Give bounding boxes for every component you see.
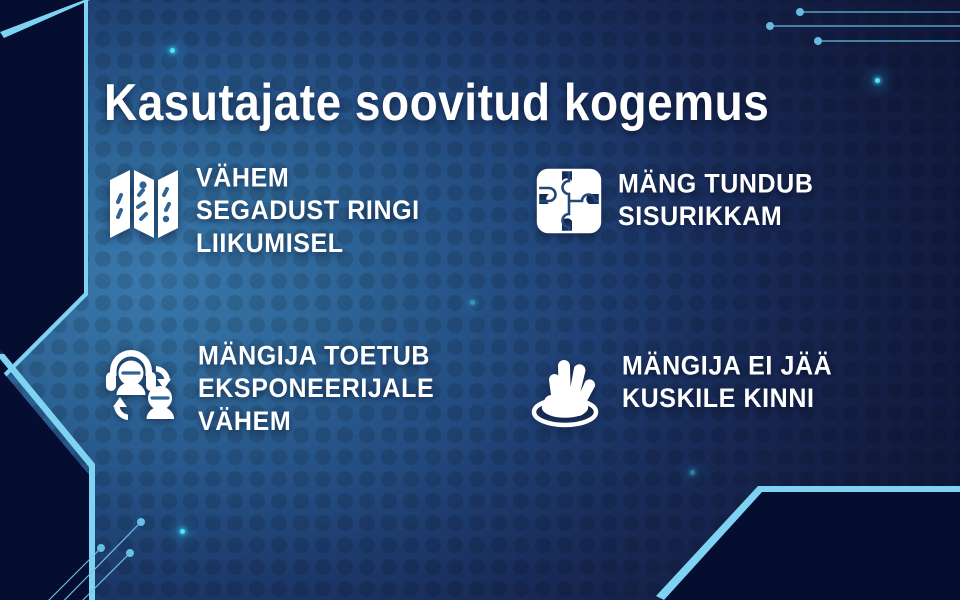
glow-dot xyxy=(170,48,175,53)
feature-label: VÄHEM SEGADUST RINGI LIIKUMISEL xyxy=(196,162,420,261)
headset-support-exchange-icon xyxy=(104,340,182,424)
hand-out-of-hole-icon xyxy=(524,350,606,430)
glow-dot xyxy=(470,300,475,305)
feature-item: MÄNG TUNDUB SISURIKKAM xyxy=(536,168,813,234)
puzzle-pieces-icon xyxy=(536,168,602,234)
feature-item: MÄNGIJA TOETUB EKSPONEERIJALE VÄHEM xyxy=(104,340,434,433)
feature-item: VÄHEM SEGADUST RINGI LIIKUMISEL xyxy=(108,162,420,255)
page-title: Kasutajate soovitud kogemus xyxy=(104,72,769,132)
feature-item: MÄNGIJA EI JÄÄ KUSKILE KINNI xyxy=(524,350,832,430)
feature-label: MÄNGIJA TOETUB EKSPONEERIJALE VÄHEM xyxy=(198,340,434,439)
feature-label: MÄNG TUNDUB SISURIKKAM xyxy=(618,168,813,234)
feature-label: MÄNGIJA EI JÄÄ KUSKILE KINNI xyxy=(622,350,832,416)
glow-dot xyxy=(875,78,880,83)
folded-map-icon xyxy=(108,162,180,244)
glow-dot xyxy=(180,529,185,534)
slide-canvas: Kasutajate soovitud kogemus xyxy=(0,0,960,600)
glow-dot xyxy=(690,470,695,475)
